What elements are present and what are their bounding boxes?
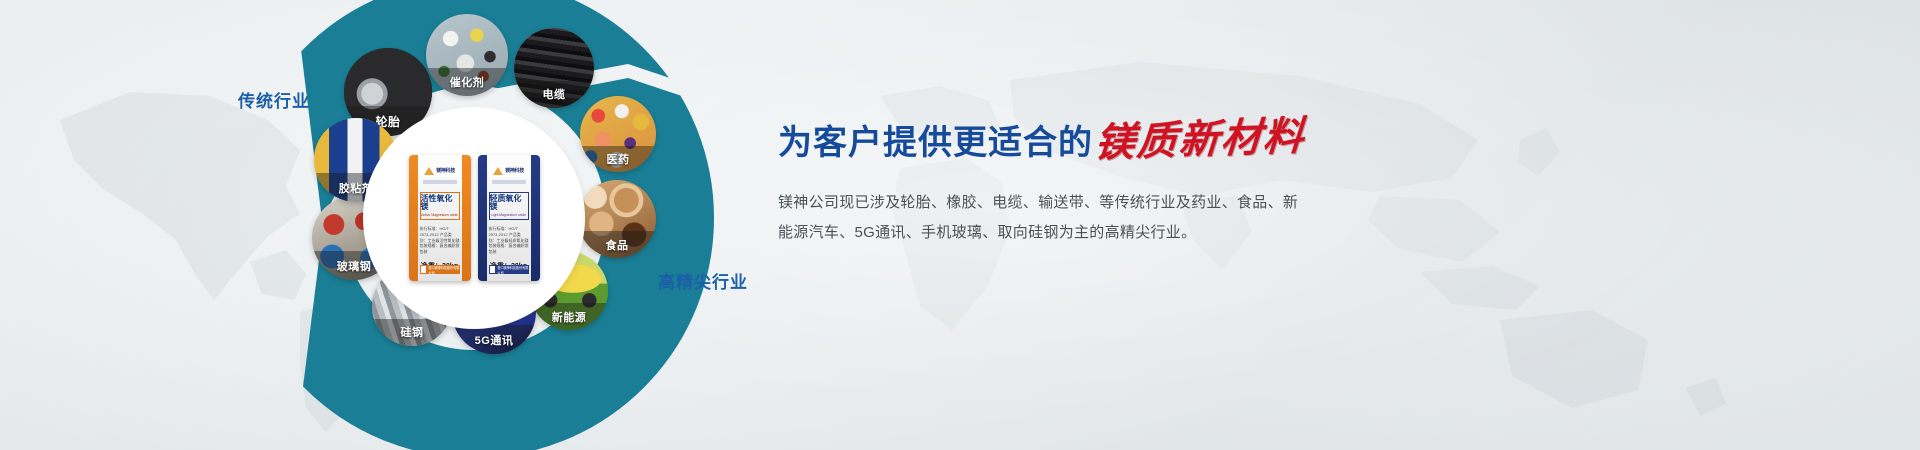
wheel-item-label: 催化剂 [426, 68, 508, 96]
product-name-cn: 轻质氧化镁 [490, 195, 528, 211]
wheel-item-label: 医药 [580, 146, 656, 172]
mountain-logo-icon [493, 167, 503, 175]
label-high-tech-industry: 高精尖行业 [658, 268, 748, 293]
bag-side-stripe-left [478, 155, 487, 281]
description-paragraph: 镁神公司现已涉及轮胎、橡胶、电缆、输送带、等传统行业及药业、食品、新能源汽车、5… [778, 188, 1308, 248]
label-traditional-industry: 传统行业 [238, 87, 310, 112]
wheel-item-medicine[interactable]: 医药 [580, 96, 656, 172]
product-bag-light-mgo[interactable]: 镁神科技 轻质氧化镁 Light Magnesium oxide 执行标准：HG… [478, 155, 540, 281]
bag-accent-bar [492, 180, 526, 184]
product-spec: 执行标准：HG/T 2573-2012 产品类别：工业级轻质氧化镁 包装规格：复… [489, 226, 529, 255]
description-line-2: 能源汽车、5G通讯、手机玻璃、取向硅钢为主的高精尖行业。 [778, 224, 1196, 241]
mountain-logo-icon [424, 167, 434, 175]
brand-name: 镁神科技 [436, 167, 455, 174]
company-name: 营口镁神科技股份有限公司 [428, 265, 459, 275]
product-name-en: Active Magnesium oxide [421, 213, 458, 217]
headline-highlight: 镁质新材料 [1093, 116, 1306, 163]
bag-side-stripe-left [409, 155, 418, 281]
brand-logo: 镁神科技 [489, 164, 529, 177]
center-product-circle: 镁神科技 活性氧化镁 Active Magnesium oxide 执行标准：H… [366, 110, 582, 326]
headline: 为客户提供更适合的 镁质新材料 [778, 108, 1478, 160]
company-name: 营口镁神科技股份有限公司 [497, 265, 528, 275]
brand-name: 镁神科技 [505, 167, 524, 174]
product-name-box: 活性氧化镁 Active Magnesium oxide [420, 192, 460, 220]
description-line-1: 镁神公司现已涉及轮胎、橡胶、电缆、输送带、等传统行业及药业、食品、新 [778, 194, 1298, 211]
bag-accent-bar [423, 180, 457, 184]
product-name-box: 轻质氧化镁 Light Magnesium oxide [489, 192, 529, 220]
product-name-en: Light Magnesium oxide [491, 213, 526, 217]
marketing-text-block: 为客户提供更适合的 镁质新材料 镁神公司现已涉及轮胎、橡胶、电缆、输送带、等传统… [778, 108, 1478, 248]
qs-mark-icon [421, 266, 427, 273]
bag-side-stripe-right [531, 155, 540, 281]
wheel-item-label: 新能源 [530, 303, 608, 330]
headline-primary: 为客户提供更适合的 [778, 126, 1093, 160]
brand-logo: 镁神科技 [420, 164, 460, 177]
bag-footer: 营口镁神科技股份有限公司 [420, 265, 460, 274]
industry-wheel-diagram: 传统行业 高精尖行业 轮胎 催化剂 电缆 医药 食品 新能源 5G 5G通讯 硅… [230, 0, 790, 450]
qs-mark-icon [490, 266, 496, 273]
wheel-item-label: 硅钢 [372, 319, 452, 346]
wheel-item-food[interactable]: 食品 [578, 180, 656, 258]
wheel-item-catalyst[interactable]: 催化剂 [426, 14, 508, 96]
product-name-cn: 活性氧化镁 [421, 195, 459, 211]
product-bag-active-mgo[interactable]: 镁神科技 活性氧化镁 Active Magnesium oxide 执行标准：H… [409, 155, 471, 281]
wheel-item-label: 5G通讯 [452, 325, 536, 354]
bag-side-stripe-right [462, 155, 471, 281]
product-spec: 执行标准：HG/T 2573-2012 产品类别：工业级活性氧化镁 包装规格：复… [420, 226, 460, 255]
bag-footer: 营口镁神科技股份有限公司 [489, 265, 529, 274]
